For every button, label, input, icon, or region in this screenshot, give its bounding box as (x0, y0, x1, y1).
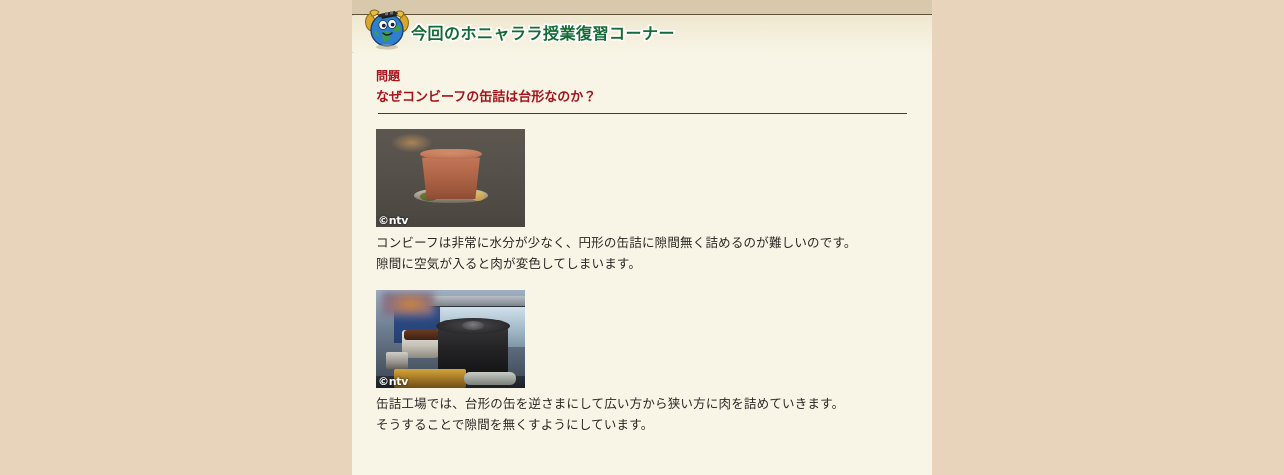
banner-stone-texture (352, 0, 932, 15)
page-root: 今回のホニャララ授業復習コーナー 問題 なぜコンビーフの缶詰は台形なのか？ ©n… (0, 0, 1284, 475)
article-body: 問題 なぜコンビーフの缶詰は台形なのか？ ©ntv コンビーフは非常に水分が少な… (352, 53, 932, 436)
paragraph-line: そうすることで隙間を無くすようにしています。 (376, 415, 908, 436)
blurred-light-shape (382, 292, 434, 316)
cannery-factory-photo: ©ntv (376, 290, 525, 388)
can-shape (386, 352, 408, 369)
paragraph-line: 缶詰工場では、台形の缶を逆さまにして広い方から狭い方に肉を詰めていきます。 (376, 394, 908, 415)
question-title: なぜコンビーフの缶詰は台形なのか？ (376, 88, 908, 105)
question-label: 問題 (376, 68, 908, 84)
article-paragraph: 缶詰工場では、台形の缶を逆さまにして広い方から狭い方に肉を詰めていきます。 そう… (376, 394, 908, 436)
question-divider (378, 113, 907, 114)
photo-watermark: ©ntv (378, 376, 408, 388)
paragraph-line: 隙間に空気が入ると肉が変色してしまいます。 (376, 254, 908, 275)
photo-watermark: ©ntv (378, 215, 408, 227)
article-block: ©ntv 缶詰工場では、台形の缶を逆さまにして広い方から狭い方に肉を詰めていきま… (376, 290, 908, 436)
page-banner: 今回のホニャララ授業復習コーナー (352, 0, 932, 53)
corned-beef-photo: ©ntv (376, 129, 525, 227)
corned-beef-block-shape (422, 155, 480, 199)
corned-beef-top-shape (420, 149, 482, 159)
article-block: ©ntv コンビーフは非常に水分が少なく、円形の缶詰に隙間無く詰めるのが難しいの… (376, 129, 908, 275)
banner-title: 今回のホニャララ授業復習コーナー (411, 20, 675, 44)
machine-hole-shape (462, 321, 484, 330)
article-paragraph: コンビーフは非常に水分が少なく、円形の缶詰に隙間無く詰めるのが難しいのです。 隙… (376, 233, 908, 275)
globe-mascot-icon (361, 3, 413, 51)
pipe-shape (464, 372, 516, 385)
bowl-meat-shape (404, 330, 440, 340)
paragraph-line: コンビーフは非常に水分が少なく、円形の缶詰に隙間無く詰めるのが難しいのです。 (376, 233, 908, 254)
content-panel: 今回のホニャララ授業復習コーナー 問題 なぜコンビーフの缶詰は台形なのか？ ©n… (352, 0, 932, 475)
